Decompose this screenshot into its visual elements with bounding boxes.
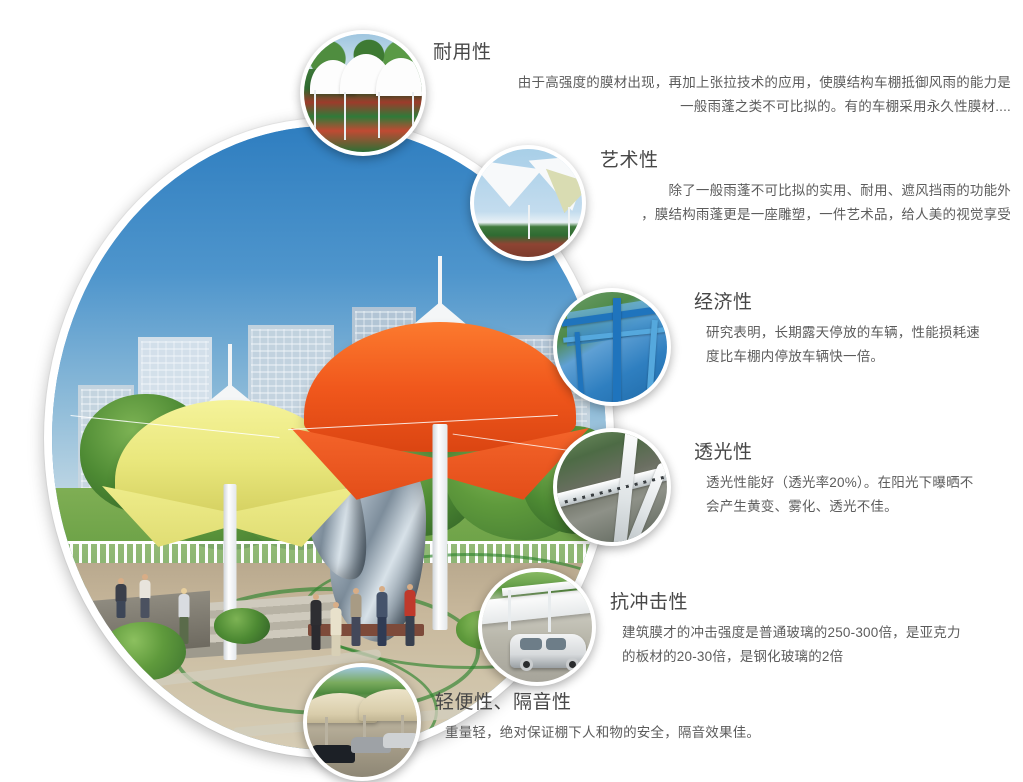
feature-title-economy: 经济性	[694, 290, 1014, 316]
shrub	[102, 622, 186, 680]
parked-car	[311, 745, 355, 763]
shrub	[214, 608, 270, 644]
thumb-image-white-carport-with-silver-suv	[482, 572, 592, 682]
feature-title-durability: 耐用性	[433, 40, 1011, 66]
feature-body-line: 一般雨蓬之类不可比拟的。有的车棚采用永久性膜材....	[433, 95, 1011, 119]
thumb-image-white-sail-shade-structures	[474, 149, 582, 257]
pedestrian	[308, 594, 324, 650]
feature-body-light-transmittance: 透光性能好（透光率20%）。在阳光下曝晒不 会产生黄变、雾化、透光不佳。	[694, 471, 1014, 519]
parked-car	[383, 733, 417, 748]
feature-body-line: 透光性能好（透光率20%）。在阳光下曝晒不	[706, 471, 1014, 495]
feature-thumb-light-transmittance[interactable]	[553, 428, 671, 546]
pedestrian	[114, 578, 128, 618]
feature-body-line: 研究表明，长期露天停放的车辆，性能损耗速	[706, 321, 1014, 345]
feature-body-line: 的板材的20-30倍，是钢化玻璃的2倍	[622, 645, 1015, 669]
feature-body-artistry: 除了一般雨蓬不可比拟的实用、耐用、遮风挡雨的功能外 ，膜结构雨蓬更是一座雕塑，一…	[600, 179, 1011, 227]
feature-thumb-artistry[interactable]	[470, 145, 586, 261]
feature-thumb-economy[interactable]	[553, 288, 671, 406]
pedestrian	[348, 588, 364, 646]
feature-body-line: ，膜结构雨蓬更是一座雕塑，一件艺术品，给人美的视觉享受	[600, 203, 1011, 227]
feature-body-economy: 研究表明，长期露天停放的车辆，性能损耗速 度比车棚内停放车辆快一倍。	[694, 321, 1014, 369]
thumb-image-blue-steel-carport-frame	[557, 292, 667, 402]
thumb-image-white-membrane-canopy-over-sports-court	[304, 34, 422, 152]
pedestrian	[374, 586, 390, 646]
feature-block-impact-resistance: 抗冲击性 建筑膜才的冲击强度是普通玻璃的250-300倍，是亚克力 的板材的20…	[610, 590, 1015, 669]
feature-thumb-durability[interactable]	[300, 30, 426, 156]
feature-title-impact-resistance: 抗冲击性	[610, 590, 1015, 616]
feature-body-durability: 由于高强度的膜材出现，再加上张拉技术的应用，使膜结构车棚抵御风雨的能力是 一般雨…	[433, 71, 1011, 119]
pedestrian	[328, 602, 344, 656]
feature-body-impact-resistance: 建筑膜才的冲击强度是普通玻璃的250-300倍，是亚克力 的板材的20-30倍，…	[610, 621, 1015, 669]
feature-body-line: 重量轻，绝对保证棚下人和物的安全，隔音效果佳。	[445, 721, 835, 745]
thumb-image-white-steel-tube-frame-closeup	[557, 432, 667, 542]
thumb-image-beige-cantilever-carport-row	[307, 667, 417, 777]
feature-block-light-transmittance: 透光性 透光性能好（透光率20%）。在阳光下曝晒不 会产生黄变、雾化、透光不佳。	[694, 440, 1014, 519]
feature-title-lightweight-soundproof: 轻便性、隔音性	[435, 690, 835, 716]
feature-body-line: 度比车棚内停放车辆快一倍。	[706, 345, 1014, 369]
feature-block-economy: 经济性 研究表明，长期露天停放的车辆，性能损耗速 度比车棚内停放车辆快一倍。	[694, 290, 1014, 369]
pedestrian	[402, 584, 418, 646]
feature-block-artistry: 艺术性 除了一般雨蓬不可比拟的实用、耐用、遮风挡雨的功能外 ，膜结构雨蓬更是一座…	[600, 148, 1011, 227]
feature-body-line: 除了一般雨蓬不可比拟的实用、耐用、遮风挡雨的功能外	[600, 179, 1011, 203]
feature-block-lightweight-soundproof: 轻便性、隔音性 重量轻，绝对保证棚下人和物的安全，隔音效果佳。	[435, 690, 835, 745]
feature-thumb-lightweight-soundproof[interactable]	[303, 663, 421, 781]
feature-body-lightweight-soundproof: 重量轻，绝对保证棚下人和物的安全，隔音效果佳。	[435, 721, 835, 745]
pedestrian	[138, 574, 152, 618]
feature-title-light-transmittance: 透光性	[694, 440, 1014, 466]
feature-block-durability: 耐用性 由于高强度的膜材出现，再加上张拉技术的应用，使膜结构车棚抵御风雨的能力是…	[433, 40, 1011, 119]
feature-body-line: 由于高强度的膜材出现，再加上张拉技术的应用，使膜结构车棚抵御风雨的能力是	[433, 71, 1011, 95]
infographic-canvas: 耐用性 由于高强度的膜材出现，再加上张拉技术的应用，使膜结构车棚抵御风雨的能力是…	[0, 0, 1023, 782]
feature-body-line: 会产生黄变、雾化、透光不佳。	[706, 495, 1014, 519]
feature-thumb-impact-resistance[interactable]	[478, 568, 596, 686]
feature-body-line: 建筑膜才的冲击强度是普通玻璃的250-300倍，是亚克力	[622, 621, 1015, 645]
feature-title-artistry: 艺术性	[600, 148, 1011, 174]
